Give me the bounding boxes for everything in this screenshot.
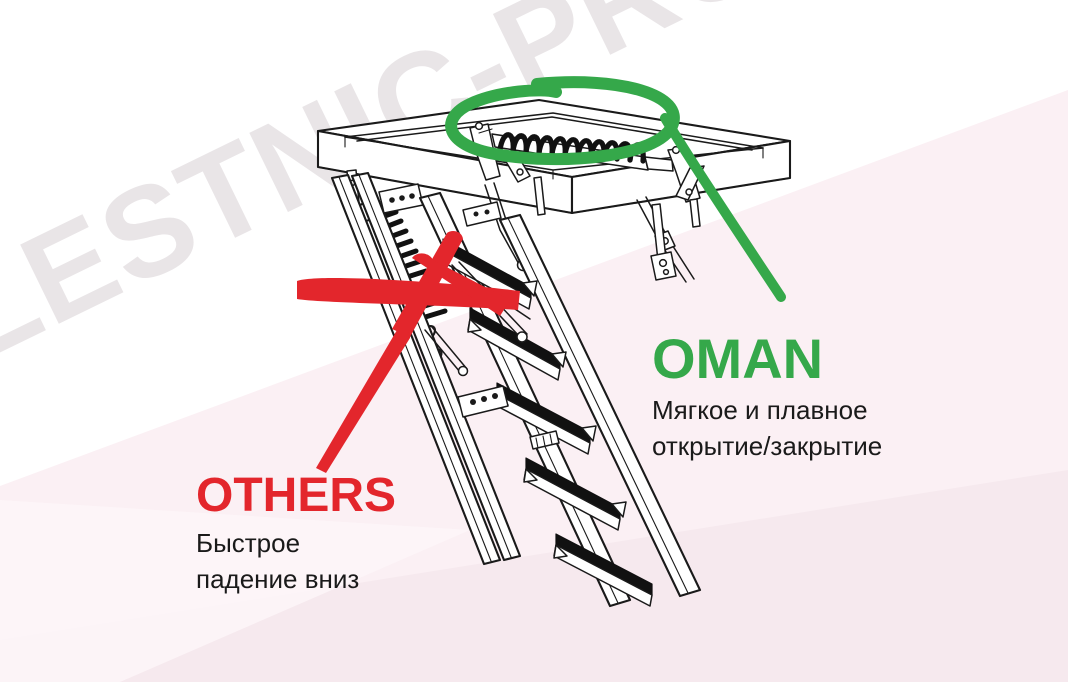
infographic-canvas: LESTNIC-PROSTO.RU .ln { fill:none; strok… bbox=[0, 0, 1068, 682]
oman-subtext: Мягкое и плавное открытие/закрытие bbox=[652, 393, 882, 465]
callout-others: OTHERS Быстрое падение вниз bbox=[196, 472, 396, 598]
others-headline: OTHERS bbox=[196, 472, 396, 520]
ladder-illustration: .ln { fill:none; stroke:#1a1a1a; stroke-… bbox=[0, 0, 1068, 682]
others-subtext: Быстрое падение вниз bbox=[196, 526, 396, 598]
oman-headline: OMAN bbox=[652, 331, 882, 387]
callout-oman: OMAN Мягкое и плавное открытие/закрытие bbox=[652, 331, 882, 465]
red-arrow-tail bbox=[316, 328, 410, 473]
